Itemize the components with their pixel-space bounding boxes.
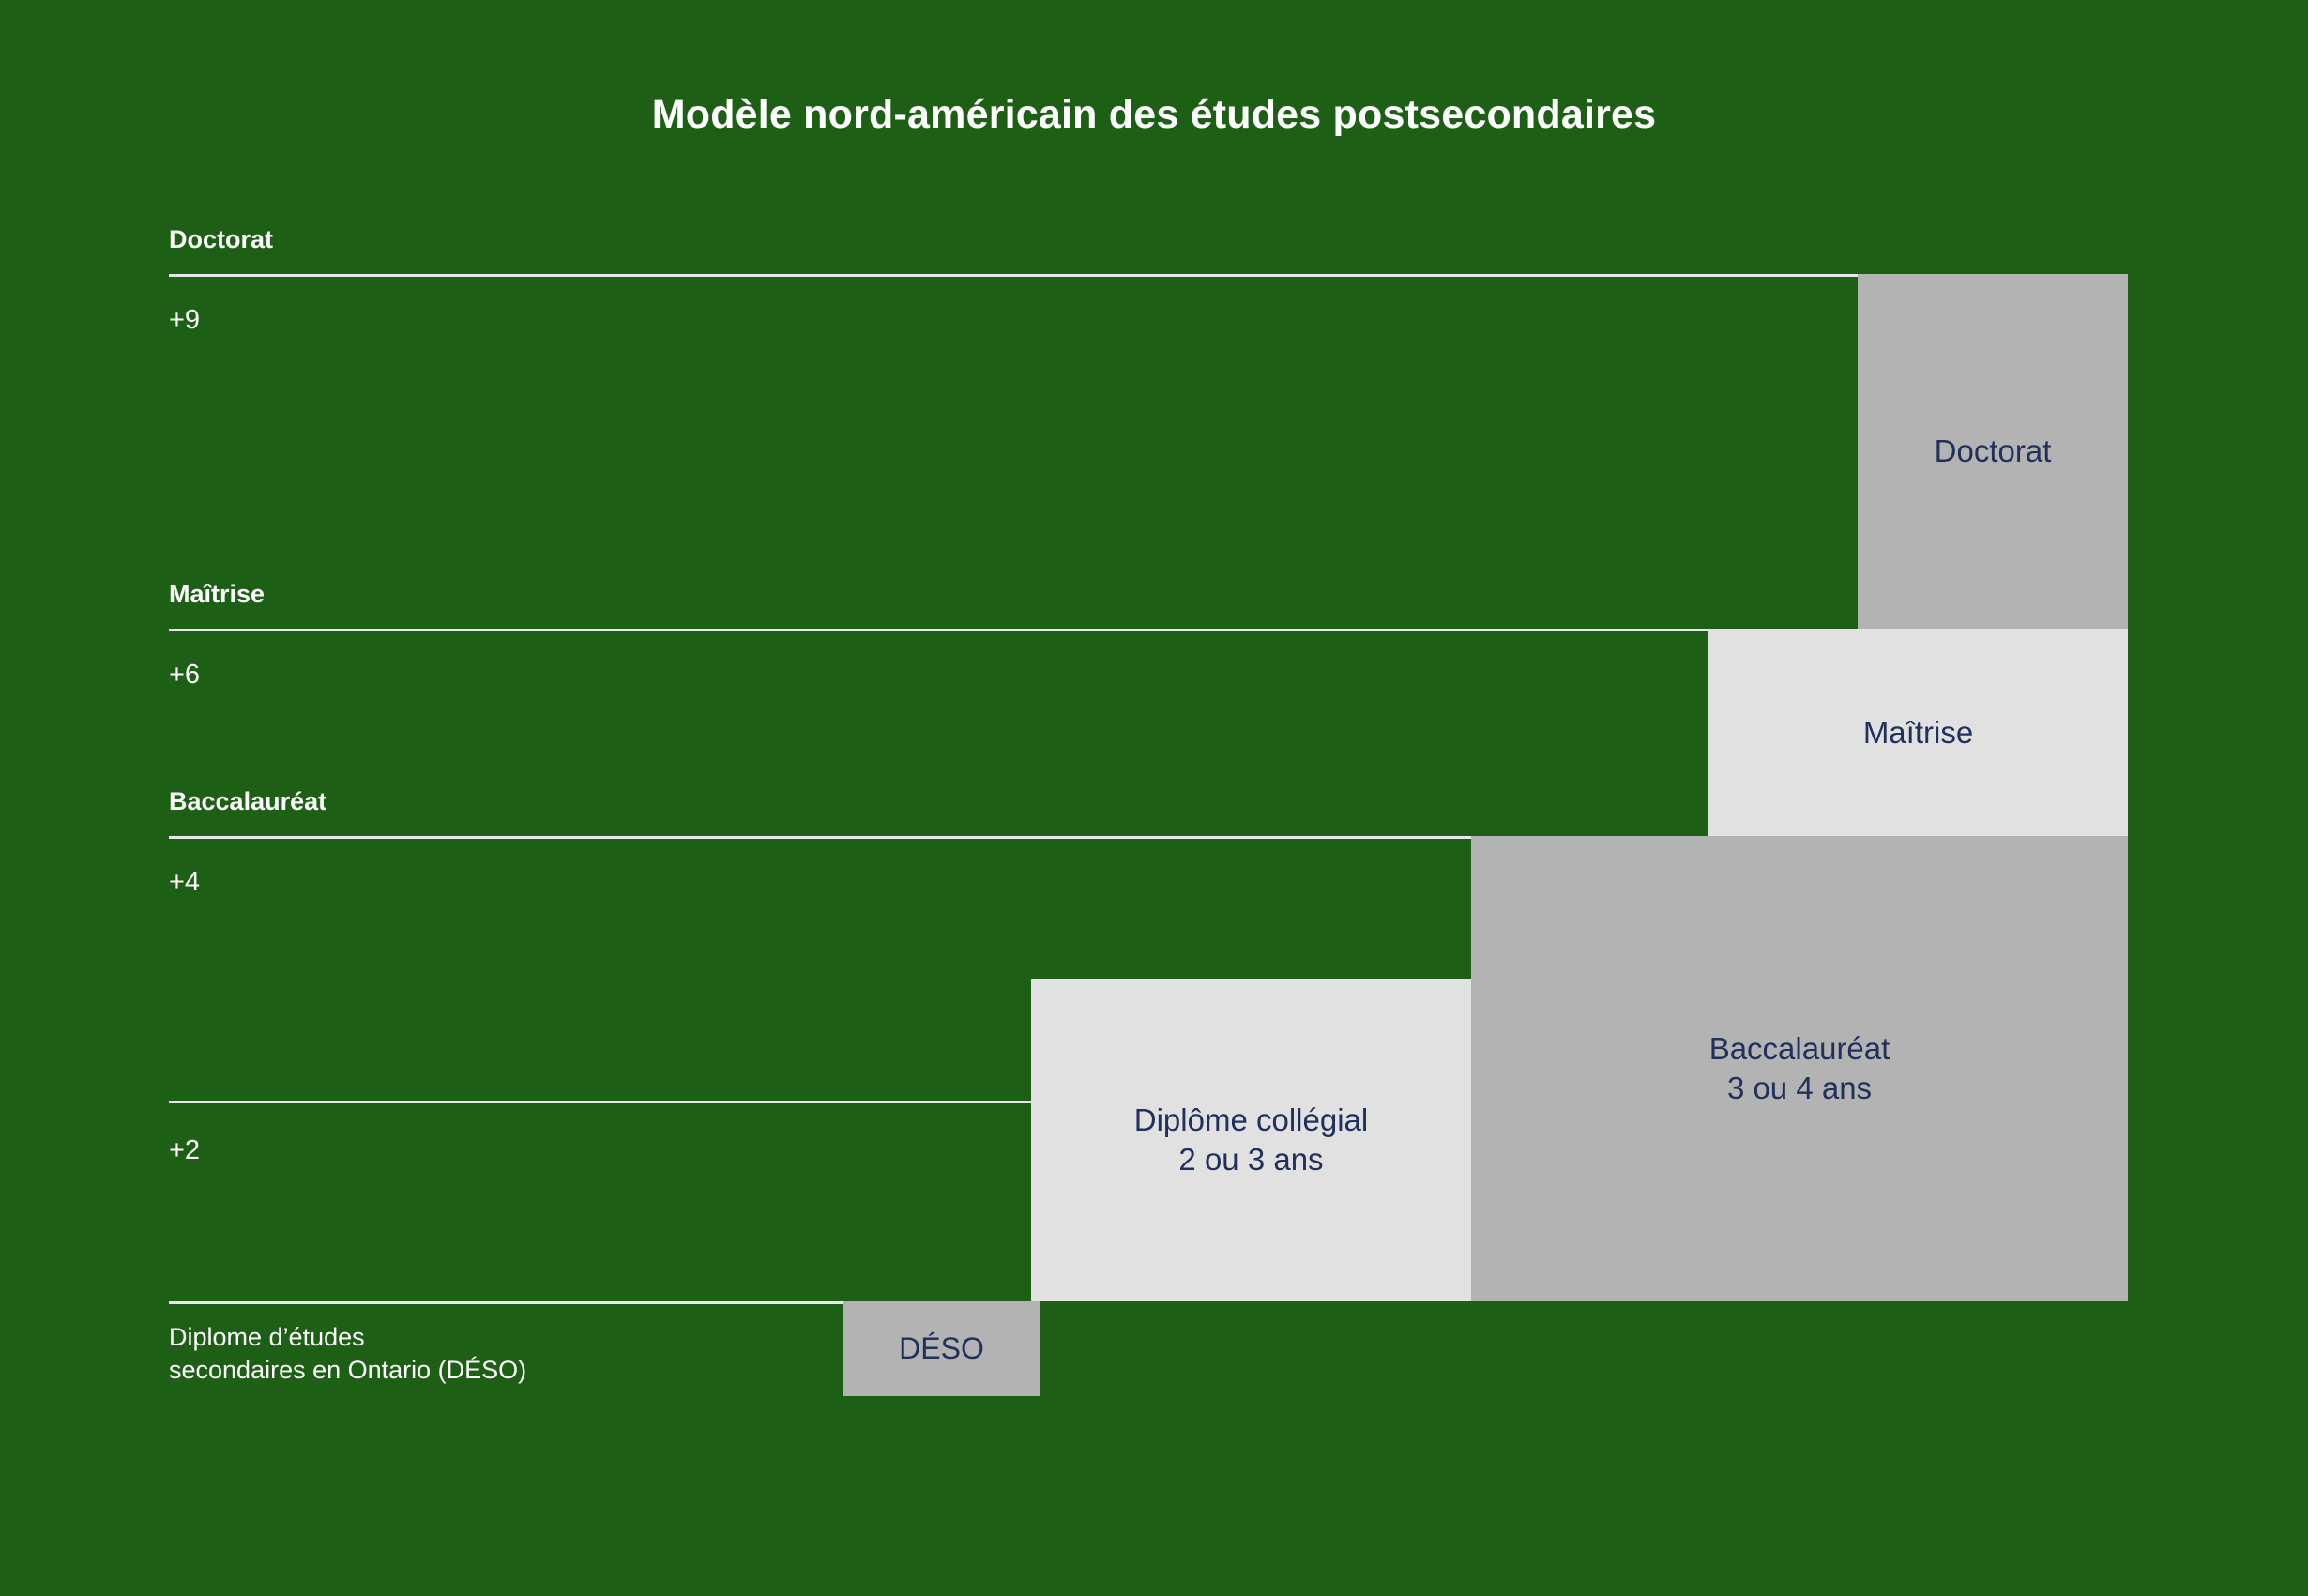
- rule-maitrise: [169, 629, 1708, 631]
- rule-baccalaureat: [169, 836, 1471, 839]
- stair-box-doctorate: Doctorat: [1858, 274, 2128, 629]
- axis-label-doctorat: Doctorat: [169, 225, 273, 254]
- stair-box-bachelor: Baccalauréat 3 ou 4 ans: [1471, 836, 2128, 1301]
- stair-box-deso: DÉSO: [843, 1301, 1040, 1396]
- baseline-caption: Diplome d’études secondaires en Ontario …: [169, 1321, 526, 1386]
- axis-tick-plus-nine: +9: [169, 305, 200, 336]
- axis-tick-plus-two: +2: [169, 1135, 200, 1166]
- axis-label-baccalaureat: Baccalauréat: [169, 787, 326, 816]
- axis-tick-plus-six: +6: [169, 660, 200, 691]
- axis-tick-plus-four: +4: [169, 867, 200, 898]
- rule-doctorat: [169, 274, 1858, 277]
- page-title: Modèle nord-américain des études postsec…: [0, 92, 2308, 138]
- infographic-canvas: Modèle nord-américain des études postsec…: [0, 0, 2308, 1596]
- rule-baseline: [169, 1301, 843, 1304]
- axis-label-maitrise: Maîtrise: [169, 580, 265, 609]
- rule-plus-two: [169, 1101, 1031, 1103]
- stair-box-master: Maîtrise: [1708, 629, 2128, 836]
- stair-box-college-diploma: Diplôme collégial 2 ou 3 ans: [1031, 979, 1471, 1301]
